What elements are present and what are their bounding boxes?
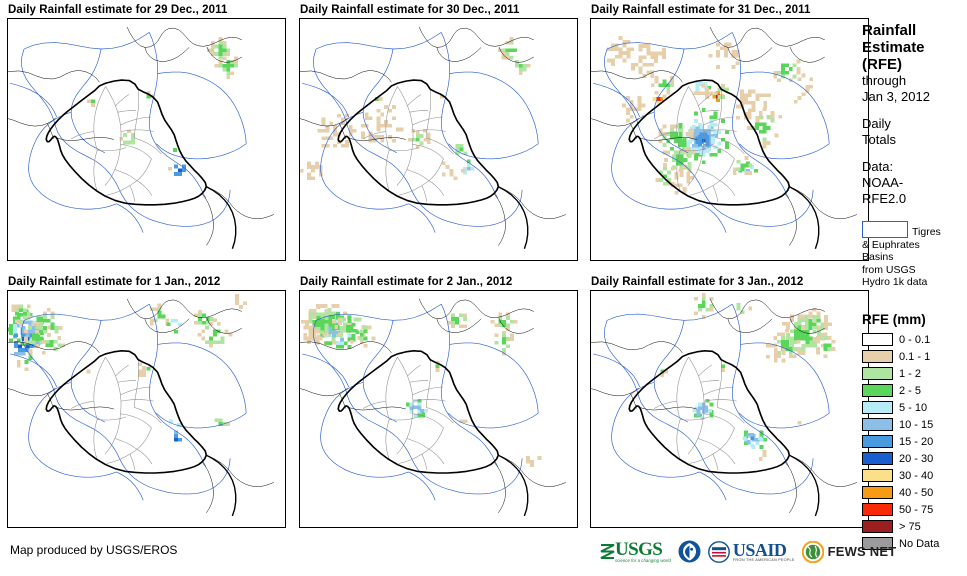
usgs-wave-icon xyxy=(600,543,615,560)
info-totals-line2: Totals xyxy=(862,132,967,148)
panel-31-dec-2011[interactable]: Daily Rainfall estimate for 31 Dec., 201… xyxy=(583,4,875,266)
fews-wordmark: FEWS NET xyxy=(828,544,897,559)
map-frame[interactable] xyxy=(7,18,286,261)
agency-logo-row: USGS science for a changing world USAID … xyxy=(600,540,896,563)
map-credit: Map produced by USGS/EROS xyxy=(10,543,177,557)
usaid-logo: USAID FROM THE AMERICAN PEOPLE xyxy=(708,541,795,563)
legend-swatch xyxy=(862,469,893,482)
legend-label: No Data xyxy=(899,538,939,550)
legend-swatch xyxy=(862,452,893,465)
legend-row: 0.1 - 1 xyxy=(862,349,967,364)
info-totals-line1: Daily xyxy=(862,116,967,132)
noaa-logo xyxy=(678,540,701,563)
panel-title: Daily Rainfall estimate for 3 Jan., 2012 xyxy=(591,276,803,288)
legend-swatch xyxy=(862,384,893,397)
usgs-tagline: science for a changing world xyxy=(615,558,671,563)
map-canvas xyxy=(8,19,285,260)
info-title-line1: Rainfall xyxy=(862,22,967,39)
legend-label: > 75 xyxy=(899,521,921,533)
map-info-column: Rainfall Estimate (RFE) through Jan 3, 2… xyxy=(862,22,967,289)
legend-label: 1 - 2 xyxy=(899,368,921,380)
panel-title: Daily Rainfall estimate for 2 Jan., 2012 xyxy=(300,276,512,288)
legend-row: 10 - 15 xyxy=(862,417,967,432)
map-canvas xyxy=(8,291,285,527)
legend-row: 0 - 0.1 xyxy=(862,332,967,347)
panel-title: Daily Rainfall estimate for 31 Dec., 201… xyxy=(591,4,811,16)
basin-label-line3: Basins xyxy=(862,251,967,264)
legend-row: 2 - 5 xyxy=(862,383,967,398)
map-frame[interactable] xyxy=(590,290,869,528)
legend-swatch xyxy=(862,486,893,499)
map-canvas xyxy=(591,19,868,260)
info-title-line2: Estimate xyxy=(862,39,967,56)
map-frame[interactable] xyxy=(7,290,286,528)
basin-label-line4: from USGS xyxy=(862,264,967,277)
usaid-tagline: FROM THE AMERICAN PEOPLE xyxy=(733,558,795,562)
usgs-wordmark: USGS xyxy=(615,541,671,558)
legend-label: 50 - 75 xyxy=(899,504,933,516)
rfe-legend: RFE (mm) 0 - 0.10.1 - 11 - 22 - 55 - 101… xyxy=(862,312,967,553)
legend-label: 0 - 0.1 xyxy=(899,334,930,346)
legend-label: 40 - 50 xyxy=(899,487,933,499)
legend-label: 15 - 20 xyxy=(899,436,933,448)
legend-row: 30 - 40 xyxy=(862,468,967,483)
map-canvas xyxy=(591,291,868,527)
legend-swatch xyxy=(862,520,893,533)
legend-row: 5 - 10 xyxy=(862,400,967,415)
legend-label: 5 - 10 xyxy=(899,402,927,414)
fews-net-logo: FEWS NET xyxy=(802,541,897,563)
legend-row: 40 - 50 xyxy=(862,485,967,500)
legend-swatch xyxy=(862,350,893,363)
usaid-seal-icon xyxy=(708,541,730,563)
panel-title: Daily Rainfall estimate for 1 Jan., 2012 xyxy=(8,276,220,288)
map-frame[interactable] xyxy=(299,290,578,528)
legend-swatch xyxy=(862,401,893,414)
panel-2-jan-2012[interactable]: Daily Rainfall estimate for 2 Jan., 2012 xyxy=(292,276,584,538)
info-through-date: Jan 3, 2012 xyxy=(862,89,967,105)
map-canvas xyxy=(300,19,577,260)
legend-label: 0.1 - 1 xyxy=(899,351,930,363)
panel-3-jan-2012[interactable]: Daily Rainfall estimate for 3 Jan., 2012 xyxy=(583,276,875,538)
legend-row: 1 - 2 xyxy=(862,366,967,381)
legend-row: > 75 xyxy=(862,519,967,534)
legend-swatch xyxy=(862,367,893,380)
basin-label-line2: & Euphrates xyxy=(862,239,967,252)
legend-row: 20 - 30 xyxy=(862,451,967,466)
panel-30-dec-2011[interactable]: Daily Rainfall estimate for 30 Dec., 201… xyxy=(292,4,584,266)
panel-title: Daily Rainfall estimate for 30 Dec., 201… xyxy=(300,4,520,16)
info-title-line3: (RFE) xyxy=(862,56,967,73)
info-data-line1: Data: xyxy=(862,159,967,175)
rfe-legend-header: RFE (mm) xyxy=(862,312,967,327)
legend-label: 30 - 40 xyxy=(899,470,933,482)
basin-label-inline: Tigres xyxy=(912,226,941,238)
info-totals: Daily Totals xyxy=(862,116,967,148)
fews-globe-icon xyxy=(802,541,824,563)
panel-1-jan-2012[interactable]: Daily Rainfall estimate for 1 Jan., 2012 xyxy=(0,276,292,538)
legend-row: 15 - 20 xyxy=(862,434,967,449)
usgs-logo: USGS science for a changing world xyxy=(600,541,671,563)
basin-legend-key: Tigres & Euphrates Basins from USGS Hydr… xyxy=(862,221,967,289)
legend-swatch xyxy=(862,333,893,346)
legend-label: 2 - 5 xyxy=(899,385,921,397)
legend-label: 10 - 15 xyxy=(899,419,933,431)
map-frame[interactable] xyxy=(299,18,578,261)
legend-swatch xyxy=(862,418,893,431)
info-through-label: through xyxy=(862,73,967,89)
legend-swatch xyxy=(862,503,893,516)
legend-swatch xyxy=(862,435,893,448)
map-frame[interactable] xyxy=(590,18,869,261)
panel-29-dec-2011[interactable]: Daily Rainfall estimate for 29 Dec., 201… xyxy=(0,4,292,266)
basin-label-line5: Hydro 1k data xyxy=(862,276,967,289)
panel-title: Daily Rainfall estimate for 29 Dec., 201… xyxy=(8,4,228,16)
info-data-source: Data: NOAA- RFE2.0 xyxy=(862,159,967,207)
info-data-line2: NOAA- xyxy=(862,175,967,191)
map-canvas xyxy=(300,291,577,527)
legend-row: 50 - 75 xyxy=(862,502,967,517)
info-data-line3: RFE2.0 xyxy=(862,191,967,207)
usaid-wordmark: USAID xyxy=(733,542,795,558)
basin-swatch xyxy=(862,221,908,238)
rfe-legend-rows: 0 - 0.10.1 - 11 - 22 - 55 - 1010 - 1515 … xyxy=(862,332,967,551)
legend-label: 20 - 30 xyxy=(899,453,933,465)
